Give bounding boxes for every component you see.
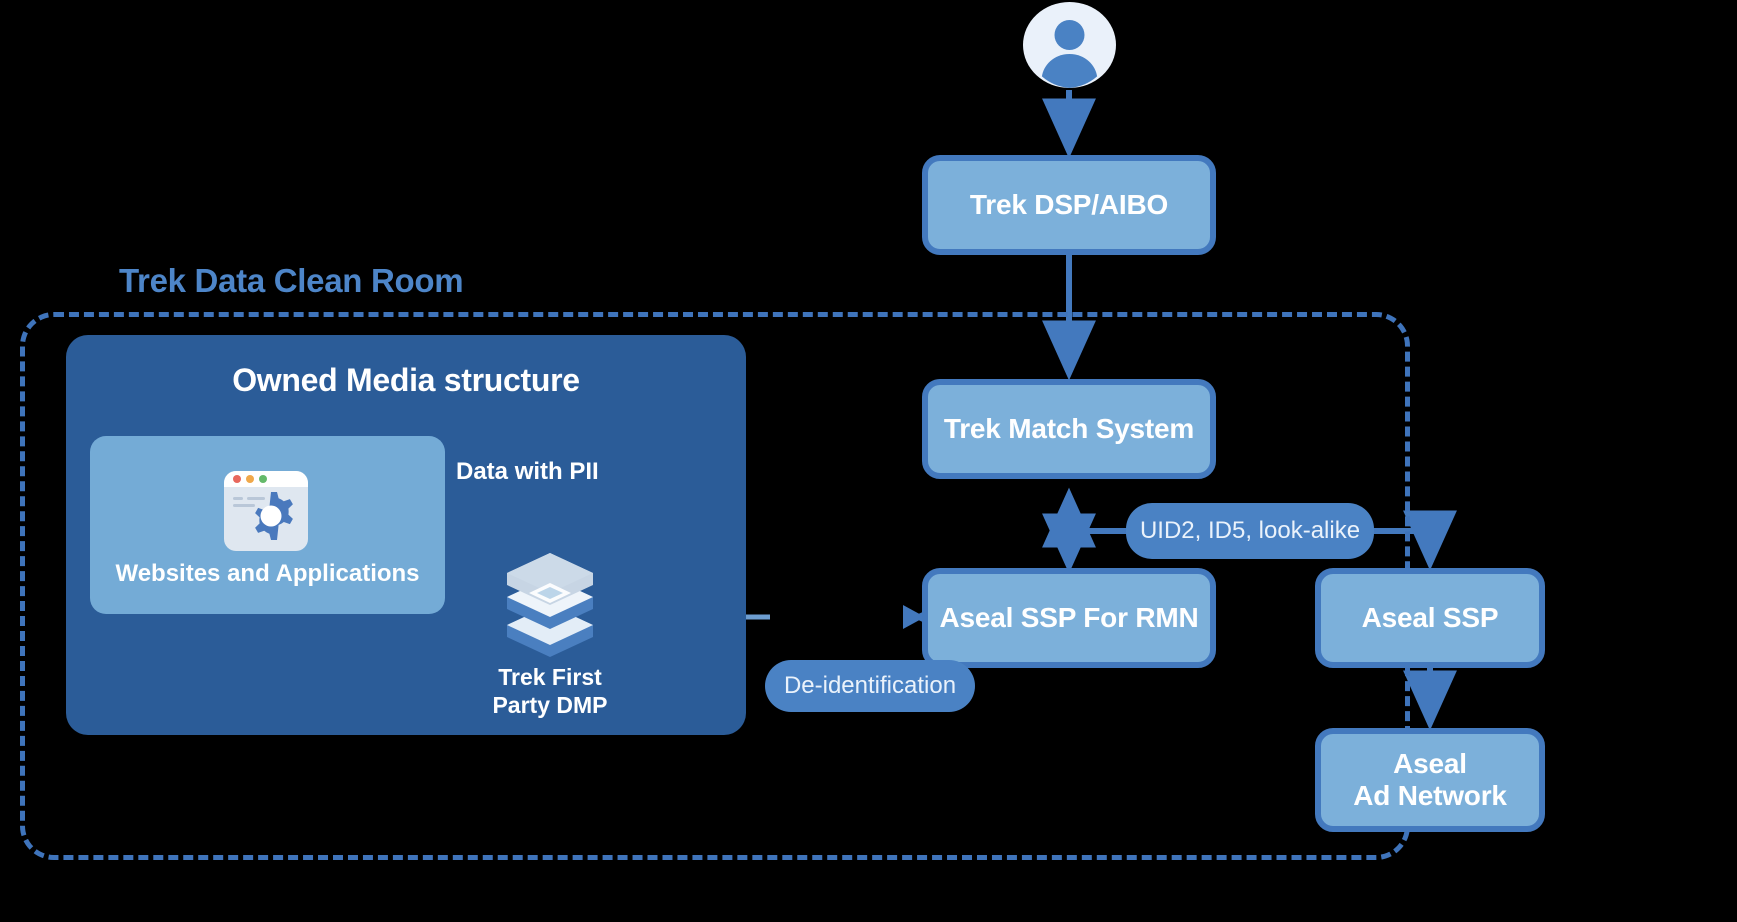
owned-media-title: Owned Media structure [66, 362, 746, 399]
aseal-ad-network-line2: Ad Network [1353, 780, 1507, 811]
node-aseal-ad-network[interactable]: Aseal Ad Network [1315, 728, 1545, 832]
node-trek-match-system[interactable]: Trek Match System [922, 379, 1216, 479]
clean-room-title: Trek Data Clean Room [105, 262, 477, 300]
pill-uid2-id5-lookalike: UID2, ID5, look-alike [1126, 503, 1374, 559]
pill-de-identification: De-identification [765, 660, 975, 712]
data-with-pii-label: Data with PII [456, 458, 599, 486]
node-aseal-ad-network-label: Aseal Ad Network [1353, 748, 1507, 812]
node-trek-dsp-aibo-label: Trek DSP/AIBO [970, 189, 1168, 221]
stacked-layers-icon [505, 553, 595, 657]
node-aseal-ssp[interactable]: Aseal SSP [1315, 568, 1545, 668]
trek-first-party-dmp-label: Trek First Party DMP [450, 664, 650, 719]
node-trek-dsp-aibo[interactable]: Trek DSP/AIBO [922, 155, 1216, 255]
dmp-label-line2: Party DMP [492, 692, 607, 718]
person-avatar-icon [1023, 2, 1116, 88]
dmp-label-line1: Trek First [498, 664, 602, 690]
node-aseal-ssp-for-rmn-label: Aseal SSP For RMN [939, 602, 1198, 634]
de-identification-label: De-identification [784, 672, 956, 700]
node-trek-match-system-label: Trek Match System [944, 413, 1194, 445]
node-aseal-ssp-for-rmn[interactable]: Aseal SSP For RMN [922, 568, 1216, 668]
node-aseal-ssp-label: Aseal SSP [1362, 602, 1499, 634]
diagram-canvas: Trek Data Clean Room Owned Media structu… [0, 0, 1737, 922]
uid2-id5-lookalike-label: UID2, ID5, look-alike [1140, 517, 1360, 545]
aseal-ad-network-line1: Aseal [1393, 748, 1467, 779]
websites-and-applications-label: Websites and Applications [90, 560, 445, 588]
browser-gear-icon [222, 467, 310, 551]
